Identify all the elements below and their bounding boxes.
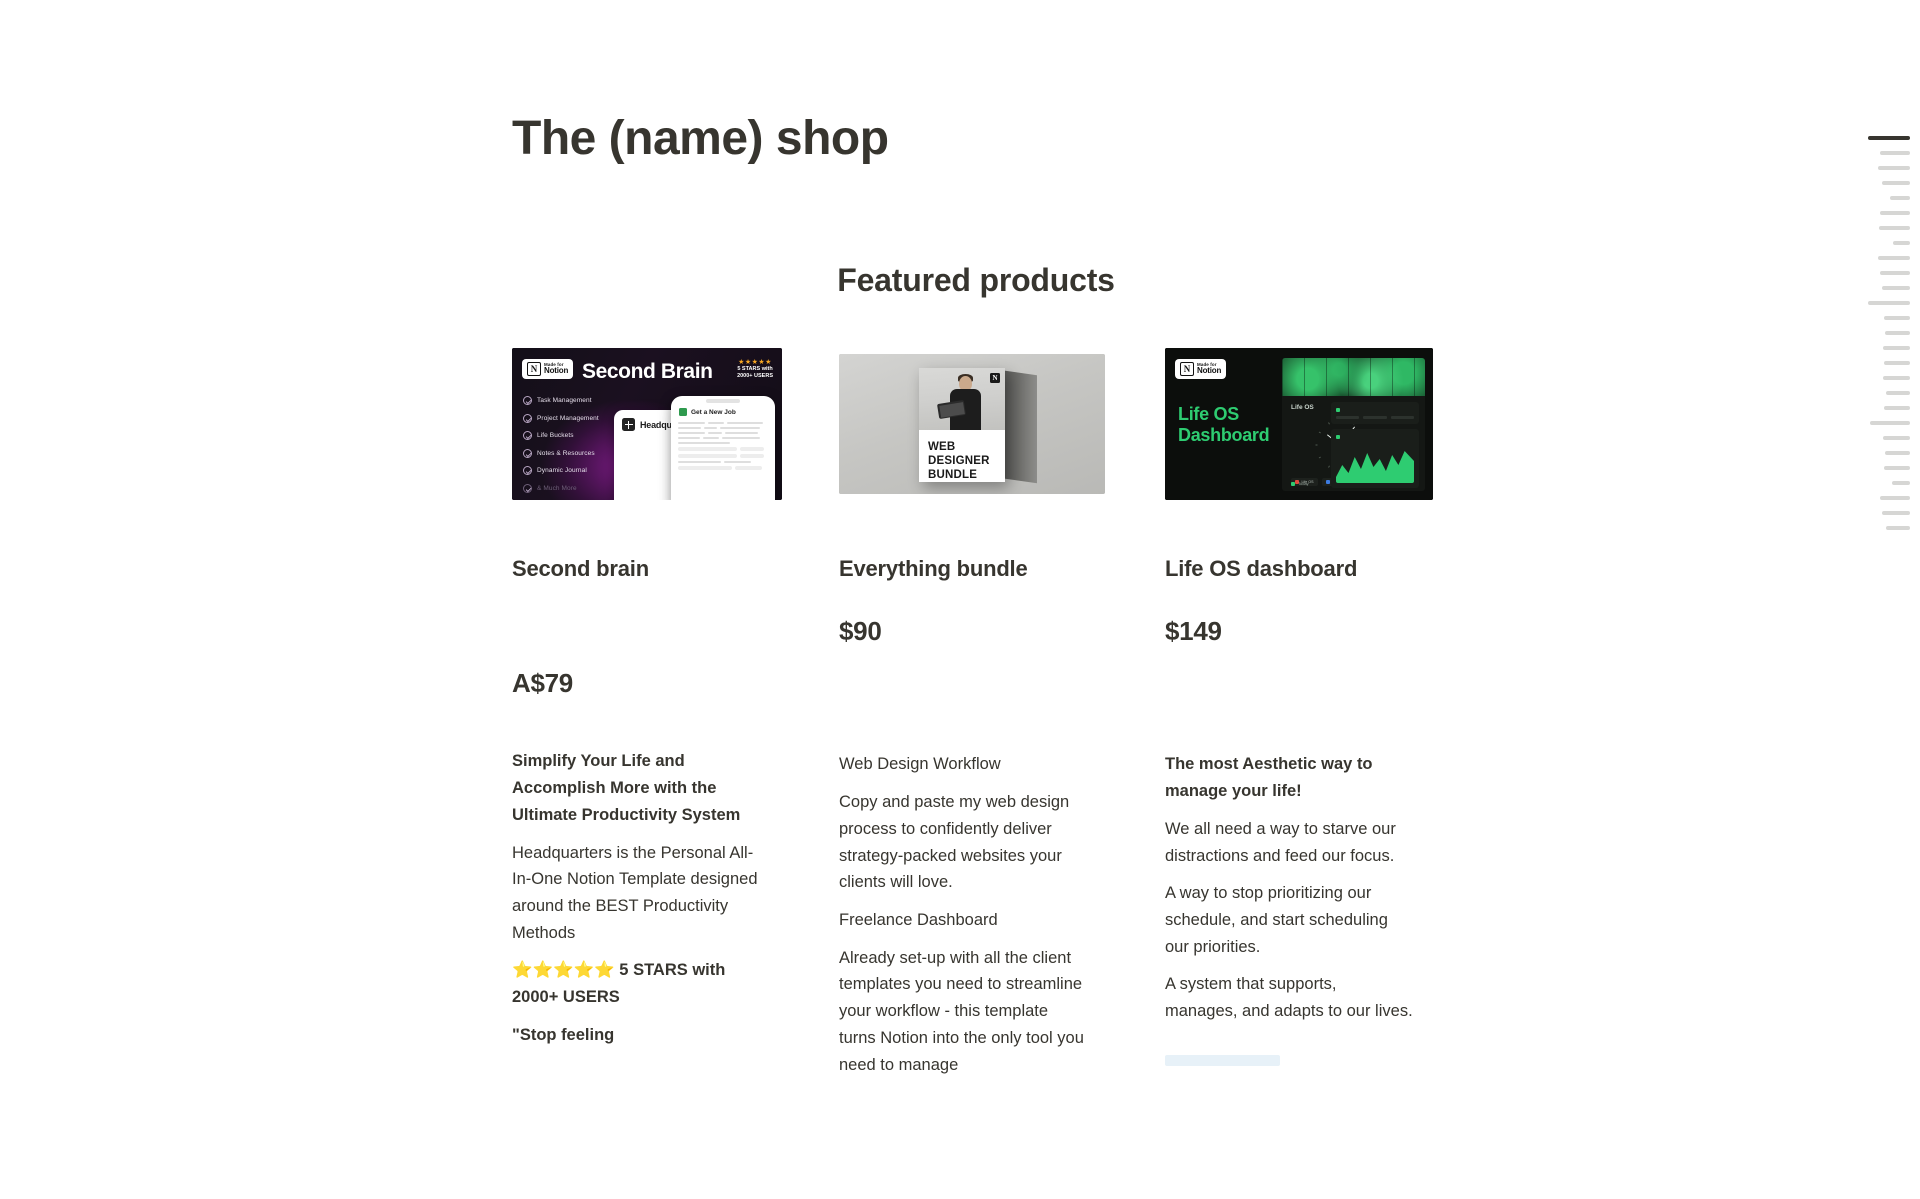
outline-item-bar bbox=[1893, 241, 1910, 245]
product-column-second-brain: N Made for Notion Second Brain ★★★★★ 5 S… bbox=[512, 348, 838, 1078]
outline-item-bar bbox=[1878, 166, 1910, 170]
outline-item-bar bbox=[1868, 136, 1910, 140]
outline-item[interactable] bbox=[1856, 355, 1910, 370]
outline-item-bar bbox=[1882, 286, 1910, 290]
product-title[interactable]: Second brain bbox=[512, 555, 838, 584]
description-paragraph: Headquarters is the Personal All-In-One … bbox=[512, 840, 760, 947]
featured-products-columns: N Made for Notion Second Brain ★★★★★ 5 S… bbox=[512, 348, 1440, 1078]
book-title-block: WEB DESIGNER BUNDLE FREELANCE DASHBOARD … bbox=[919, 430, 1005, 482]
outline-item[interactable] bbox=[1856, 415, 1910, 430]
outline-item-bar bbox=[1883, 346, 1910, 350]
product-image-second-brain[interactable]: N Made for Notion Second Brain ★★★★★ 5 S… bbox=[512, 348, 782, 500]
panel-label: Life OS bbox=[1291, 404, 1314, 411]
product-image-everything-bundle[interactable]: N WEB DESIGNER BUNDLE FREELANCE DASHBOAR… bbox=[839, 354, 1105, 494]
outline-item[interactable] bbox=[1856, 370, 1910, 385]
hero-banner-image bbox=[1282, 358, 1425, 396]
outline-item[interactable] bbox=[1856, 430, 1910, 445]
badge-text: Made for Notion bbox=[1197, 363, 1221, 376]
outline-item-bar bbox=[1885, 331, 1910, 335]
outline-item-bar bbox=[1879, 226, 1910, 230]
outline-item[interactable] bbox=[1856, 160, 1910, 175]
description-paragraph: Simplify Your Life and Accomplish More w… bbox=[512, 748, 760, 828]
second-brain-rating: ★★★★★ 5 STARS with 2000+ USERS bbox=[737, 358, 773, 380]
outline-item[interactable] bbox=[1856, 250, 1910, 265]
outline-item[interactable] bbox=[1856, 190, 1910, 205]
dashboard-right-column bbox=[1331, 402, 1419, 491]
outline-item[interactable] bbox=[1856, 235, 1910, 250]
outline-item[interactable] bbox=[1856, 520, 1910, 535]
outline-item-bar bbox=[1868, 301, 1910, 305]
outline-item[interactable] bbox=[1856, 325, 1910, 340]
outline-item[interactable] bbox=[1856, 130, 1910, 145]
description-paragraph: We all need a way to starve our distract… bbox=[1165, 816, 1413, 869]
notion-logo-icon: N bbox=[1180, 362, 1194, 376]
outline-item-bar bbox=[1884, 466, 1910, 470]
phone-preview: Get a New Job bbox=[671, 396, 775, 500]
outline-item-bar bbox=[1886, 391, 1910, 395]
product-description: Simplify Your Life and Accomplish More w… bbox=[512, 748, 838, 1048]
grid-icon bbox=[622, 418, 635, 431]
outline-minimap[interactable] bbox=[1856, 130, 1920, 535]
notion-logo-icon: N bbox=[990, 373, 1000, 383]
notion-logo-icon: N bbox=[527, 362, 541, 376]
book-mockup: N WEB DESIGNER BUNDLE FREELANCE DASHBOAR… bbox=[919, 368, 1005, 482]
outline-item-bar bbox=[1892, 481, 1910, 485]
description-paragraph: The most Aesthetic way to manage your li… bbox=[1165, 751, 1413, 804]
outline-item-bar bbox=[1882, 181, 1910, 185]
description-paragraph: Copy and paste my web design process to … bbox=[839, 789, 1087, 896]
outline-item[interactable] bbox=[1856, 460, 1910, 475]
page-title: The (name) shop bbox=[512, 110, 889, 168]
outline-item[interactable] bbox=[1856, 220, 1910, 235]
check-circle-icon bbox=[523, 484, 532, 493]
highlighted-block[interactable] bbox=[1165, 1055, 1280, 1066]
description-paragraph: Freelance Dashboard bbox=[839, 907, 1087, 934]
badge-text: Made for Notion bbox=[544, 363, 568, 376]
outline-item[interactable] bbox=[1856, 145, 1910, 160]
outline-item-bar bbox=[1886, 526, 1910, 530]
outline-item-bar bbox=[1880, 271, 1910, 275]
product-description: The most Aesthetic way to manage your li… bbox=[1165, 751, 1491, 1065]
section-heading: Featured products bbox=[512, 262, 1440, 299]
life-os-dashboard-panel: Life OS bbox=[1282, 358, 1425, 491]
outline-item[interactable] bbox=[1856, 340, 1910, 355]
outline-item[interactable] bbox=[1856, 295, 1910, 310]
product-title[interactable]: Everything bundle bbox=[839, 555, 1165, 584]
outline-item-bar bbox=[1884, 361, 1910, 365]
outline-item[interactable] bbox=[1856, 400, 1910, 415]
outline-item[interactable] bbox=[1856, 475, 1910, 490]
description-paragraph: Web Design Workflow bbox=[839, 751, 1087, 778]
product-column-life-os: N Made for Notion Life OS Dashboard Life… bbox=[1165, 348, 1491, 1078]
outline-item[interactable] bbox=[1856, 280, 1910, 295]
outline-item-bar bbox=[1883, 436, 1910, 440]
outline-item-bar bbox=[1884, 406, 1910, 410]
check-circle-icon bbox=[523, 466, 532, 475]
outline-item-bar bbox=[1880, 496, 1910, 500]
feature-item: Notes & Resources bbox=[523, 449, 599, 458]
outline-item-bar bbox=[1885, 451, 1910, 455]
app-icon bbox=[679, 408, 687, 416]
outline-item[interactable] bbox=[1856, 505, 1910, 520]
page-root: The (name) shop Featured products N Made… bbox=[0, 0, 1920, 1199]
outline-item[interactable] bbox=[1856, 310, 1910, 325]
area-chart bbox=[1336, 443, 1414, 483]
phone-notch bbox=[706, 399, 740, 403]
feature-item: Life Buckets bbox=[523, 431, 599, 440]
outline-item-bar bbox=[1882, 511, 1910, 515]
product-title[interactable]: Life OS dashboard bbox=[1165, 555, 1491, 584]
outline-item[interactable] bbox=[1856, 265, 1910, 280]
check-circle-icon bbox=[523, 396, 532, 405]
product-price: A$79 bbox=[512, 667, 838, 701]
check-circle-icon bbox=[523, 449, 532, 458]
product-image-life-os[interactable]: N Made for Notion Life OS Dashboard Life… bbox=[1165, 348, 1433, 500]
product-column-everything-bundle: N WEB DESIGNER BUNDLE FREELANCE DASHBOAR… bbox=[839, 348, 1165, 1078]
feature-item: Project Management bbox=[523, 414, 599, 423]
description-paragraph: Already set-up with all the client templ… bbox=[839, 945, 1087, 1079]
outline-item-bar bbox=[1883, 376, 1910, 380]
book-title-line: BUNDLE bbox=[928, 468, 996, 482]
made-for-notion-badge-icon: N Made for Notion bbox=[1175, 359, 1226, 379]
outline-item-bar bbox=[1880, 211, 1910, 215]
book-title-line: WEB bbox=[928, 440, 996, 454]
description-paragraph: A system that supports, manages, and ada… bbox=[1165, 971, 1413, 1024]
outline-item[interactable] bbox=[1856, 490, 1910, 505]
life-os-headline: Life OS Dashboard bbox=[1178, 404, 1269, 446]
outline-item-bar bbox=[1890, 196, 1910, 200]
feature-item: Dynamic Journal bbox=[523, 466, 599, 475]
book-cover-photo: N bbox=[919, 368, 1005, 430]
description-paragraph: A way to stop prioritizing our schedule,… bbox=[1165, 880, 1413, 960]
outline-item-bar bbox=[1884, 316, 1910, 320]
dashboard-card-chart bbox=[1331, 429, 1419, 488]
outline-item-bar bbox=[1878, 256, 1910, 260]
second-brain-feature-list: Task Management Project Management Life … bbox=[523, 396, 599, 500]
outline-item[interactable] bbox=[1856, 205, 1910, 220]
product-price: $149 bbox=[1165, 615, 1491, 649]
description-rating: ⭐⭐⭐⭐⭐ 5 STARS with 2000+ USERS bbox=[512, 957, 760, 1010]
check-circle-icon bbox=[523, 431, 532, 440]
dashboard-footer: Today bbox=[1291, 481, 1309, 486]
product-price: $90 bbox=[839, 615, 1165, 649]
feature-item: Task Management bbox=[523, 396, 599, 405]
second-brain-headline: Second Brain bbox=[582, 360, 713, 384]
description-quote: "Stop feeling bbox=[512, 1022, 760, 1049]
made-for-notion-badge-icon: N Made for Notion bbox=[522, 359, 573, 379]
outline-item[interactable] bbox=[1856, 385, 1910, 400]
phone-body bbox=[671, 422, 775, 470]
product-description: Web Design Workflow Copy and paste my we… bbox=[839, 751, 1165, 1078]
outline-item[interactable] bbox=[1856, 445, 1910, 460]
feature-item: & Much More bbox=[523, 484, 599, 493]
outline-item-bar bbox=[1880, 151, 1910, 155]
check-circle-icon bbox=[523, 414, 532, 423]
stars-icon: ★★★★★ bbox=[737, 358, 773, 366]
book-title-line: DESIGNER bbox=[928, 454, 996, 468]
outline-item[interactable] bbox=[1856, 175, 1910, 190]
outline-item-bar bbox=[1870, 421, 1910, 425]
dashboard-card bbox=[1331, 402, 1419, 424]
